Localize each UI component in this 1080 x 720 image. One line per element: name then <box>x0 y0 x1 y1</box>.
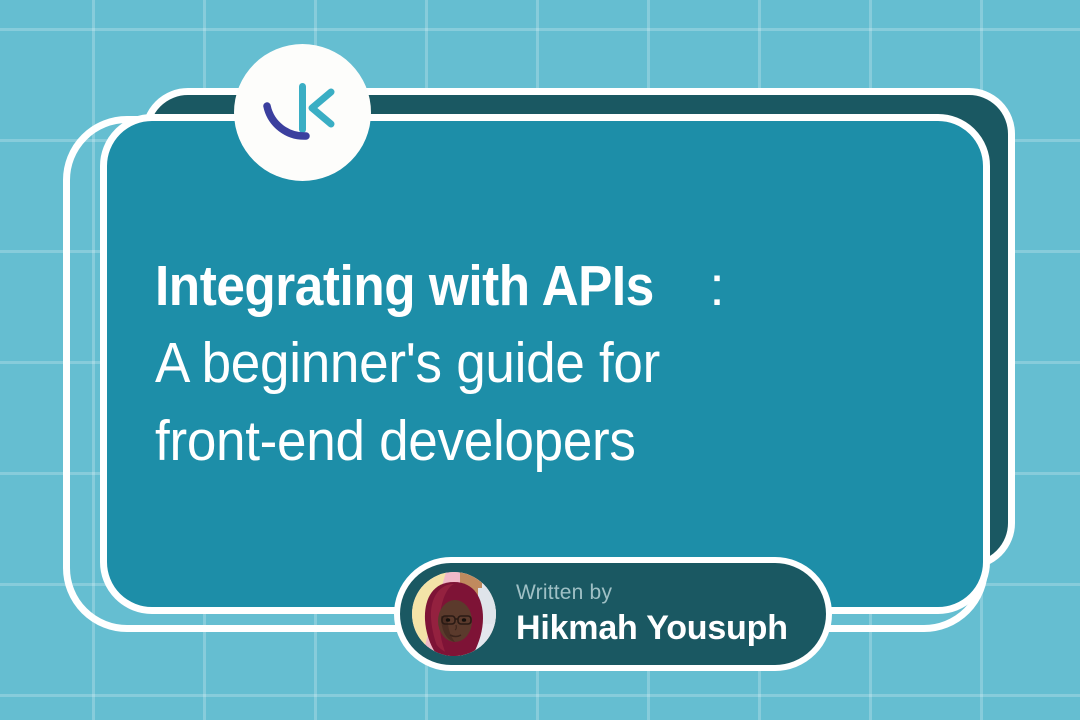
title-colon: : <box>709 254 724 317</box>
page-title: Integrating with APIs: A beginner's guid… <box>155 248 875 480</box>
logo-chevron-left-icon <box>312 92 331 124</box>
brand-logo-icon <box>234 44 371 181</box>
logo-vertical-bar-icon <box>299 83 306 133</box>
title-line-1: Integrating with APIs: <box>155 248 875 324</box>
written-by-label: Written by <box>516 580 788 605</box>
author-badge: Written by Hikmah Yousuph <box>394 557 832 671</box>
author-name: Hikmah Yousuph <box>516 607 788 649</box>
title-line-2: A beginner's guide for <box>155 324 825 402</box>
title-strong-text: Integrating with APIs <box>155 248 654 324</box>
title-line-3: front-end developers <box>155 402 825 480</box>
title-subtitle: A beginner's guide for front-end develop… <box>155 324 875 480</box>
avatar <box>412 572 496 656</box>
author-text-group: Written by Hikmah Yousuph <box>516 580 788 649</box>
